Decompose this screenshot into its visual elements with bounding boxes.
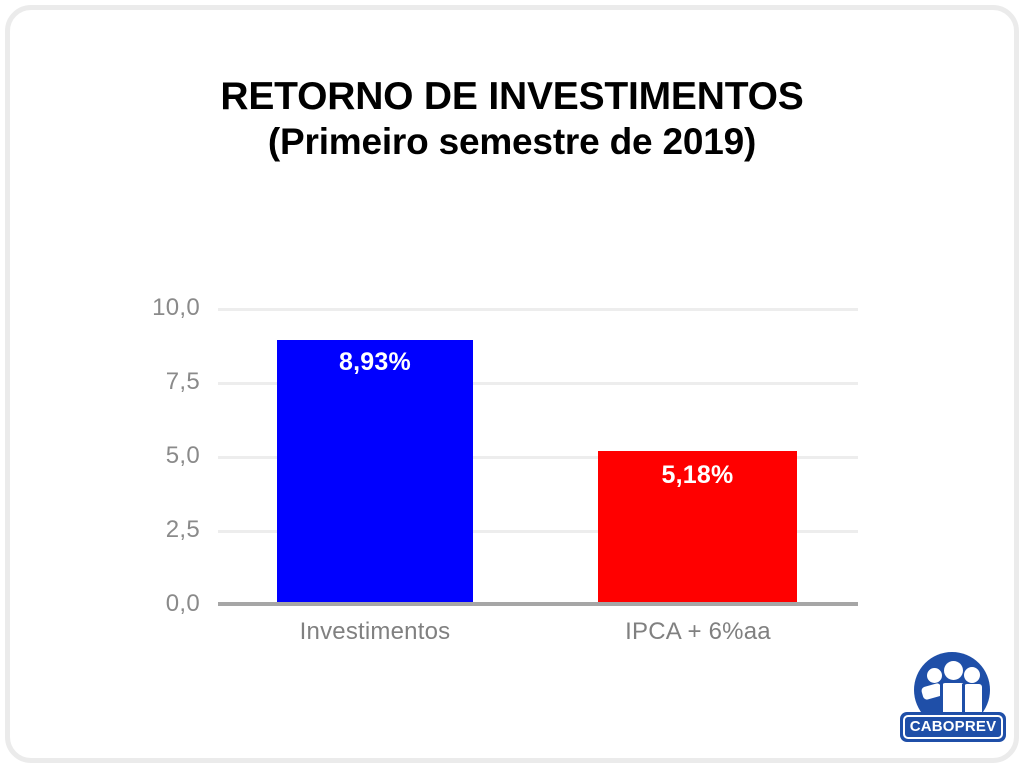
y-axis-labels: 10,0 7,5 5,0 2,5 0,0 [100, 0, 200, 768]
slide: RETORNO DE INVESTIMENTOS (Primeiro semes… [0, 0, 1024, 768]
figure-head-right [964, 667, 980, 683]
bar-value-ipca: 5,18% [598, 461, 797, 490]
logo-text: CABOPREV [903, 715, 1003, 739]
y-tick-10: 10,0 [104, 294, 200, 322]
y-tick-2_5: 2,5 [104, 516, 200, 544]
x-tick-investimentos: Investimentos [245, 618, 505, 646]
bar-value-investimentos: 8,93% [277, 348, 473, 377]
figure-head-left [927, 668, 942, 683]
caboprev-logo: CABOPREV [900, 652, 1006, 750]
x-axis-baseline [218, 602, 858, 606]
x-tick-ipca: IPCA + 6%aa [567, 618, 829, 646]
y-tick-5: 5,0 [104, 442, 200, 470]
gridline-10 [218, 308, 858, 311]
figure-head-middle [944, 661, 963, 680]
bar-ipca[interactable]: 5,18% [598, 451, 797, 604]
y-tick-7_5: 7,5 [104, 368, 200, 396]
y-tick-0: 0,0 [104, 590, 200, 618]
bar-chart: 10,0 7,5 5,0 2,5 0,0 8,93% 5,18% Investi… [0, 0, 1024, 768]
bar-investimentos[interactable]: 8,93% [277, 340, 473, 604]
logo-banner: CABOPREV [900, 712, 1006, 742]
plot-area: 8,93% 5,18% [218, 308, 858, 604]
